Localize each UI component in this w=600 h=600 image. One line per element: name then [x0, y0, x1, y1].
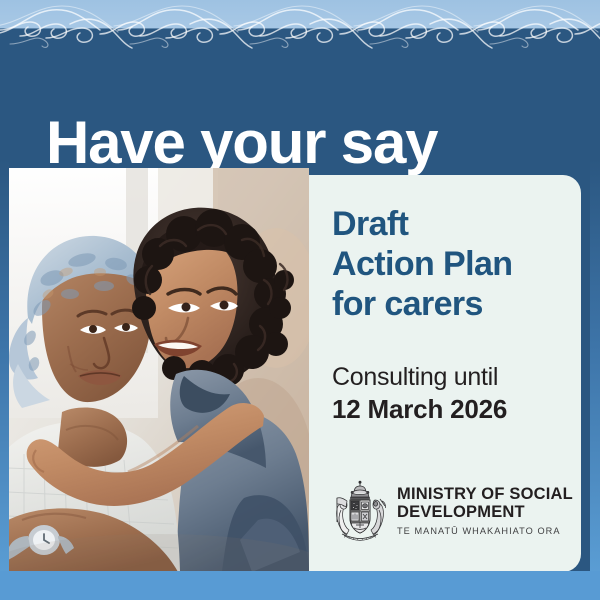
consulting-label: Consulting until	[332, 362, 570, 393]
logo-line-1: MINISTRY OF SOCIAL	[397, 485, 573, 503]
card-title-line-2: Action Plan	[332, 244, 570, 284]
info-card-content: Draft Action Plan for carers Consulting …	[332, 175, 570, 572]
page-title: Have your say	[46, 112, 566, 174]
card-title-line-3: for carers	[332, 284, 570, 324]
bottom-accent-band	[0, 571, 600, 600]
left-accent-rail	[0, 160, 9, 572]
coat-of-arms-icon	[332, 480, 388, 542]
right-accent-rail	[590, 160, 600, 572]
card-title-line-1: Draft	[332, 204, 570, 244]
poster: Have your say	[0, 0, 600, 600]
logo-line-3: TE MANATŪ WHAKAHIATO ORA	[397, 521, 573, 538]
consulting-date: 12 March 2026	[332, 393, 570, 425]
hero-photo	[8, 168, 309, 572]
card-title: Draft Action Plan for carers	[332, 175, 570, 324]
info-card-left-fill	[309, 175, 329, 572]
koru-wave-pattern-icon	[0, 0, 600, 58]
msd-logo: MINISTRY OF SOCIAL DEVELOPMENT TE MANATŪ…	[332, 480, 573, 542]
logo-wordmark: MINISTRY OF SOCIAL DEVELOPMENT TE MANATŪ…	[397, 485, 573, 538]
logo-line-2: DEVELOPMENT	[397, 503, 573, 521]
